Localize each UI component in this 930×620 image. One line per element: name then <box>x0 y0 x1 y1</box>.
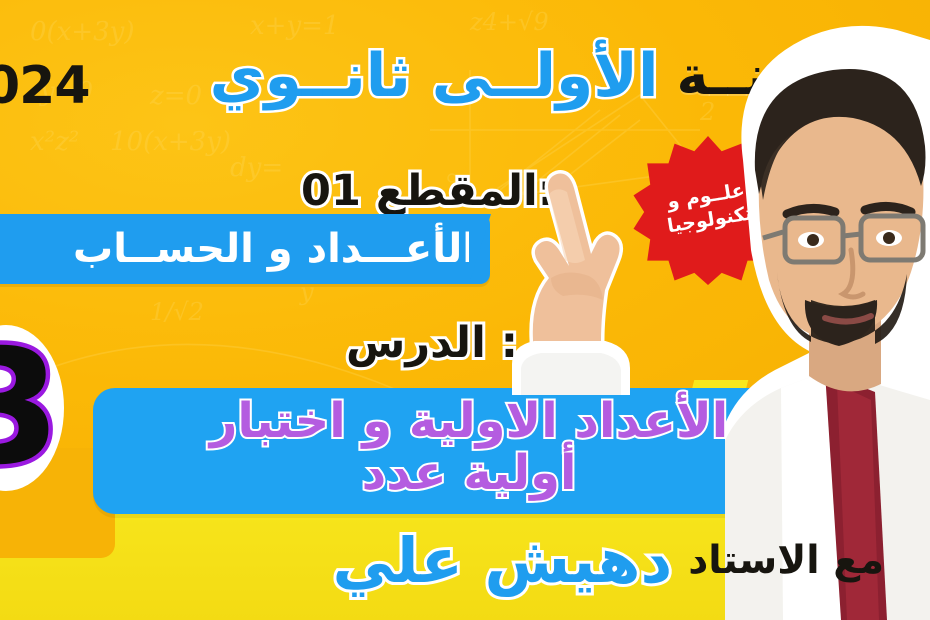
lesson-title-line-1: الأعداد الاولية و اختبار <box>119 396 819 448</box>
channel-logo-3: 3 <box>0 325 64 491</box>
pointing-hand-photo <box>497 150 672 395</box>
year-number: 024 <box>0 56 90 116</box>
teacher-name: دهيش علي <box>333 524 673 597</box>
segment-banner-text: الأعـــداد و الحســاب <box>73 226 476 272</box>
logo-glyph: 3 <box>0 325 64 491</box>
segment-banner: الأعـــداد و الحســاب <box>0 214 490 284</box>
teacher-credit-row: مع الاستاد دهيش علي <box>0 514 930 606</box>
credit-with-label: مع الاستاد <box>688 538 884 583</box>
lesson-label: الدرس : <box>346 318 518 368</box>
lesson-title-line-2: أولية عدد <box>119 448 819 500</box>
video-thumbnail: 0(x+3y) x+y=1 z4+√9 y=0 z=0 x²z² 10(x+3y… <box>0 0 930 620</box>
header-level-label: الأولــى ثانــوي <box>210 46 659 106</box>
